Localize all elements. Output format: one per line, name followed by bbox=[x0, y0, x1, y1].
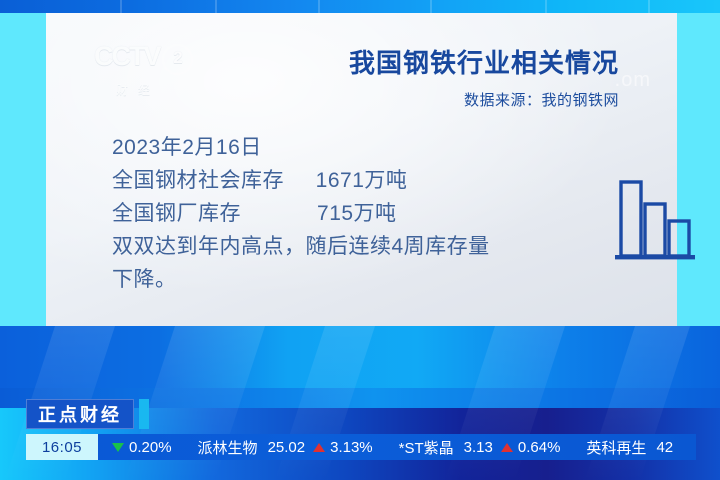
broadcast-screen: CCTV2 财经 .om 我国钢铁行业相关情况 数据来源：我的钢铁网 2023年… bbox=[0, 0, 720, 480]
data-source-label: 数据来源：我的钢铁网 bbox=[349, 89, 619, 110]
top-gradient-strip bbox=[0, 0, 720, 13]
stats-line-date: 2023年2月16日 bbox=[112, 131, 490, 164]
ticker-item-price: 3.13 bbox=[464, 439, 493, 456]
ticker-item-name: *ST紫晶 bbox=[399, 437, 454, 458]
cctv2-logo: CCTV2 财经 bbox=[94, 43, 214, 103]
stage-band-top bbox=[0, 326, 720, 388]
bar-chart-baseline bbox=[615, 255, 695, 259]
ticker-index-change: 0.20% bbox=[112, 439, 172, 456]
arrow-up-icon bbox=[313, 443, 325, 452]
left-cyan-rail bbox=[0, 13, 46, 326]
ticker-item-price: 42 bbox=[656, 439, 673, 456]
cctv-logo-text: CCTV bbox=[94, 41, 160, 71]
ticker-item-price: 25.02 bbox=[268, 439, 306, 456]
ticker-item: 派林生物 25.02 3.13% bbox=[198, 437, 373, 458]
info-card: CCTV2 财经 .om 我国钢铁行业相关情况 数据来源：我的钢铁网 2023年… bbox=[46, 13, 677, 326]
program-banner: 正点财经 bbox=[26, 399, 149, 429]
ticker-item-name: 派林生物 bbox=[198, 437, 258, 458]
headline-block: 我国钢铁行业相关情况 数据来源：我的钢铁网 bbox=[349, 49, 619, 110]
bar-chart-icon bbox=[612, 171, 698, 271]
stats-line-note-1: 双双达到年内高点，随后连续4周库存量 bbox=[112, 230, 490, 263]
right-cyan-rail bbox=[677, 13, 720, 326]
ticker-index-pct: 0.20% bbox=[129, 439, 172, 456]
stock-ticker-bar: 16:05 0.20% 派林生物 25.02 3.13% *ST紫晶 3.13 … bbox=[26, 434, 696, 460]
page-title: 我国钢铁行业相关情况 bbox=[349, 49, 619, 78]
arrow-up-icon bbox=[501, 443, 513, 452]
cctv-channel-number: 2 bbox=[162, 44, 193, 75]
stats-line-social-inventory: 全国钢材社会库存 1671万吨 bbox=[112, 164, 490, 197]
bar-2 bbox=[645, 204, 665, 256]
domain-watermark: .om bbox=[615, 69, 651, 92]
ticker-item-pct: 3.13% bbox=[330, 439, 373, 456]
ticker-item: 英科再生 42 bbox=[586, 437, 681, 458]
ticker-items: 0.20% 派林生物 25.02 3.13% *ST紫晶 3.13 0.64% … bbox=[98, 437, 696, 458]
stats-line-note-2: 下降。 bbox=[112, 263, 490, 296]
ticker-item: *ST紫晶 3.13 0.64% bbox=[399, 437, 561, 458]
cctv-channel-subtitle: 财经 bbox=[116, 81, 214, 98]
ticker-clock: 16:05 bbox=[26, 434, 98, 460]
stats-line-mill-inventory: 全国钢厂库存 715万吨 bbox=[112, 197, 490, 230]
ticker-item-name: 英科再生 bbox=[586, 437, 646, 458]
arrow-down-icon bbox=[112, 443, 124, 452]
bar-1 bbox=[621, 182, 641, 256]
stats-text-block: 2023年2月16日 全国钢材社会库存 1671万吨 全国钢厂库存 715万吨 … bbox=[112, 131, 490, 296]
program-banner-tab bbox=[139, 399, 149, 429]
program-banner-label: 正点财经 bbox=[26, 399, 134, 429]
ticker-item-pct: 0.64% bbox=[518, 439, 561, 456]
bar-3 bbox=[669, 221, 689, 256]
